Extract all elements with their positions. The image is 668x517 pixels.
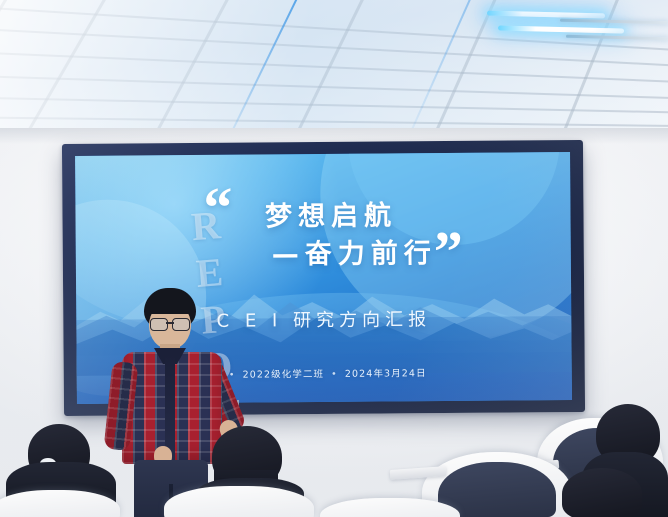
ceiling bbox=[0, 0, 668, 136]
presenter-hair-top bbox=[146, 292, 194, 314]
classroom-presentation-scene: REPORT “ ” 梦想启航 —奋力前行 C E I 研究方向汇报 •2022… bbox=[0, 0, 668, 517]
glasses-icon bbox=[149, 318, 191, 329]
lecture-seat bbox=[164, 486, 314, 517]
student-head bbox=[562, 468, 642, 517]
